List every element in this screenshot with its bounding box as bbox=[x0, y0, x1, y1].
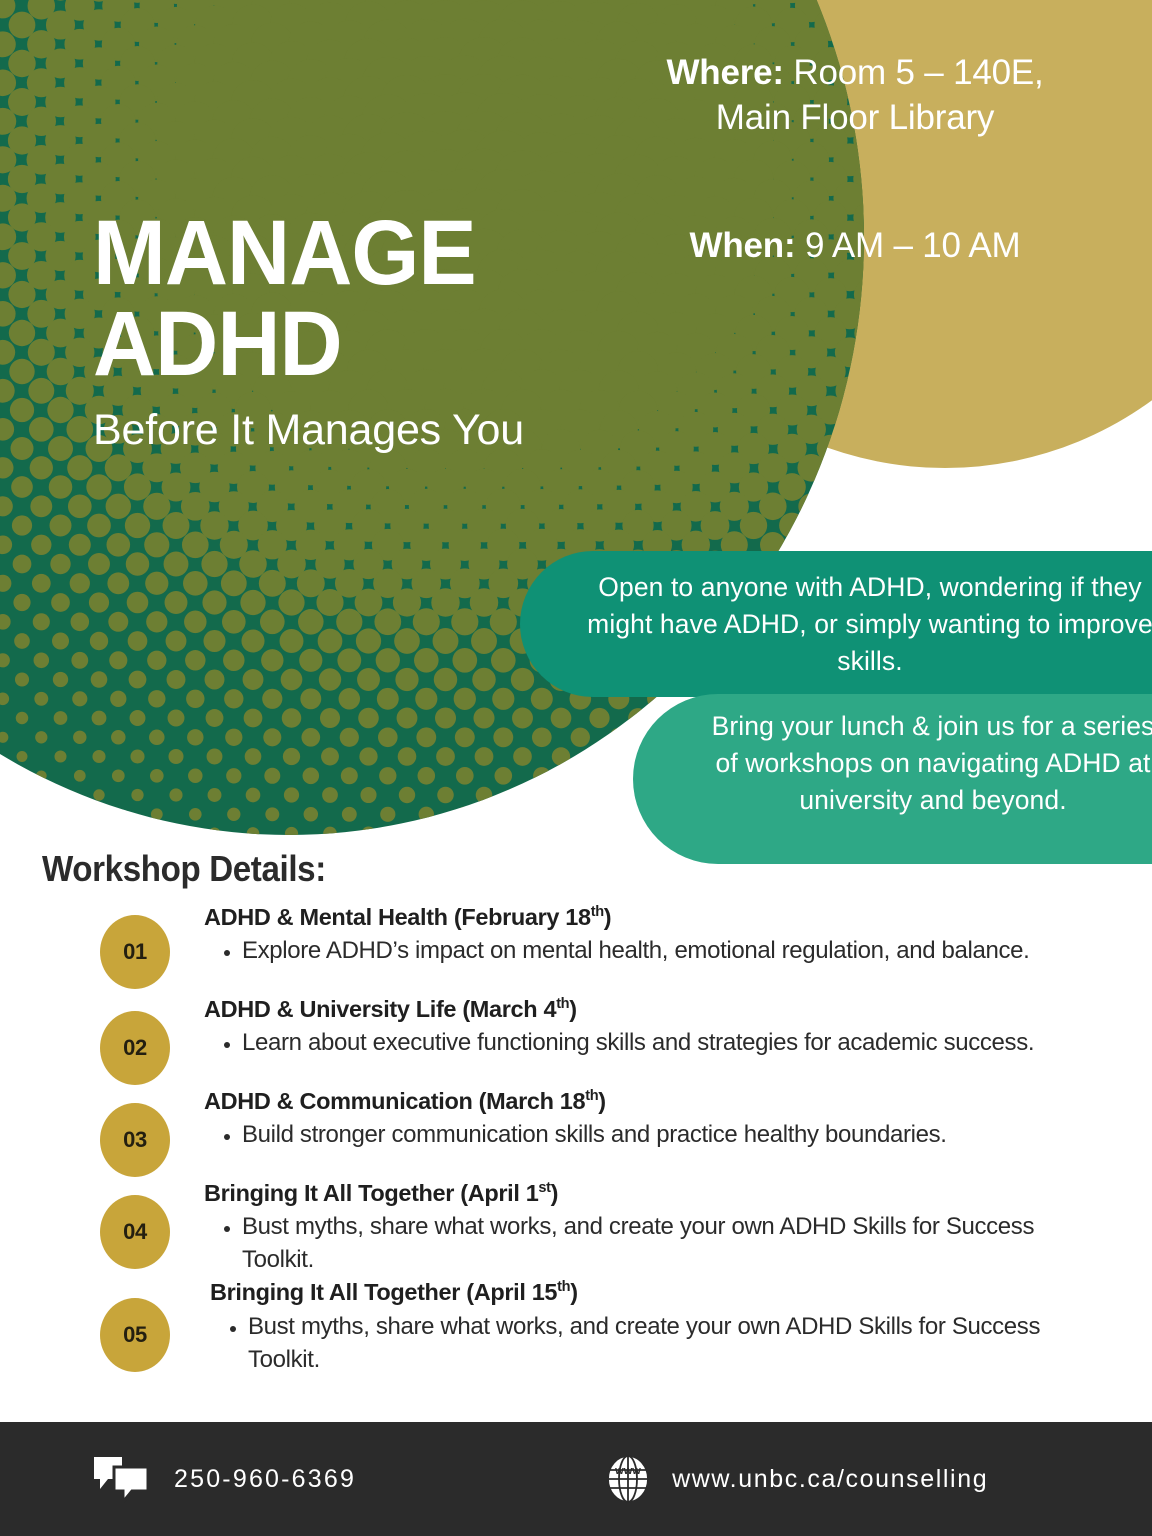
workshop-item-body: ADHD & Mental Health (February 18th) Exp… bbox=[204, 903, 1110, 967]
eligibility-callout-text: Open to anyone with ADHD, wondering if t… bbox=[570, 569, 1152, 680]
globe-www-icon: www bbox=[606, 1454, 650, 1504]
workshop-title-ordinal: th bbox=[585, 1088, 598, 1104]
workshop-item-title: Bringing It All Together (April 15th) bbox=[210, 1278, 1110, 1307]
workshop-item-body: Bringing It All Together (April 15th) Bu… bbox=[210, 1278, 1110, 1375]
workshop-title-close: ) bbox=[569, 996, 576, 1022]
hero-block: MANAGE ADHD Before It Manages You bbox=[93, 208, 733, 453]
workshop-bullet-list: Learn about executive functioning skills… bbox=[204, 1026, 1110, 1059]
workshop-number-badge: 03 bbox=[100, 1103, 170, 1177]
where-label: Where: bbox=[666, 53, 783, 92]
workshop-title-text: Bringing It All Together (April 15 bbox=[210, 1279, 557, 1305]
poster-canvas: Where: Room 5 – 140E, Main Floor Library… bbox=[0, 0, 1152, 1536]
footer-website-group[interactable]: www www.unbc.ca/counselling bbox=[606, 1454, 988, 1504]
workshop-list: 01 ADHD & Mental Health (February 18th) … bbox=[100, 903, 1110, 1378]
where-value: Room 5 – 140E, bbox=[784, 53, 1044, 92]
workshop-item: 04 Bringing It All Together (April 1st) … bbox=[100, 1179, 1110, 1276]
invitation-callout-text: Bring your lunch & join us for a series … bbox=[698, 708, 1152, 819]
workshop-item: 03 ADHD & Communication (March 18th) Bui… bbox=[100, 1087, 1110, 1177]
footer-phone-number[interactable]: 250-960-6369 bbox=[174, 1465, 356, 1494]
speech-bubbles-icon bbox=[92, 1455, 152, 1503]
when-value: 9 AM – 10 AM bbox=[795, 226, 1020, 265]
workshop-title-ordinal: th bbox=[557, 1280, 570, 1296]
workshop-bullet: Build stronger communication skills and … bbox=[242, 1118, 1110, 1151]
workshop-number-badge: 04 bbox=[100, 1195, 170, 1269]
workshop-title-ordinal: th bbox=[591, 904, 604, 920]
workshop-bullet-list: Build stronger communication skills and … bbox=[204, 1118, 1110, 1151]
workshop-bullet: Bust myths, share what works, and create… bbox=[242, 1210, 1110, 1276]
workshop-item: 01 ADHD & Mental Health (February 18th) … bbox=[100, 903, 1110, 993]
workshop-number-badge: 05 bbox=[100, 1298, 170, 1372]
title-line-2: ADHD bbox=[93, 293, 342, 395]
workshop-title-text: Bringing It All Together (April 1 bbox=[204, 1180, 538, 1206]
event-location-line1: Where: Room 5 – 140E, bbox=[600, 50, 1110, 95]
hero-subtitle: Before It Manages You bbox=[93, 408, 733, 453]
workshop-details-heading: Workshop Details: bbox=[42, 848, 326, 890]
workshop-item-title: ADHD & Communication (March 18th) bbox=[204, 1087, 1110, 1116]
title-line-1: MANAGE bbox=[93, 202, 476, 304]
workshop-bullet-list: Explore ADHD’s impact on mental health, … bbox=[204, 934, 1110, 967]
workshop-bullet-list: Bust myths, share what works, and create… bbox=[204, 1210, 1110, 1276]
contact-footer: 250-960-6369 www www.unbc.ca/c bbox=[0, 1422, 1152, 1536]
workshop-item-title: ADHD & University Life (March 4th) bbox=[204, 995, 1110, 1024]
invitation-callout: Bring your lunch & join us for a series … bbox=[633, 694, 1152, 864]
workshop-item-title: ADHD & Mental Health (February 18th) bbox=[204, 903, 1110, 932]
workshop-bullet: Explore ADHD’s impact on mental health, … bbox=[242, 934, 1110, 967]
workshop-item: 02 ADHD & University Life (March 4th) Le… bbox=[100, 995, 1110, 1085]
workshop-number-badge: 02 bbox=[100, 1011, 170, 1085]
workshop-title-close: ) bbox=[598, 1088, 605, 1114]
workshop-bullet: Learn about executive functioning skills… bbox=[242, 1026, 1110, 1059]
event-location-line2: Main Floor Library bbox=[600, 95, 1110, 140]
footer-phone-group[interactable]: 250-960-6369 bbox=[92, 1455, 356, 1503]
workshop-bullet-list: Bust myths, share what works, and create… bbox=[210, 1310, 1110, 1376]
workshop-title-text: ADHD & Mental Health (February 18 bbox=[204, 904, 591, 930]
workshop-title-close: ) bbox=[551, 1180, 558, 1206]
eligibility-callout: Open to anyone with ADHD, wondering if t… bbox=[520, 551, 1152, 697]
workshop-item-body: ADHD & Communication (March 18th) Build … bbox=[204, 1087, 1110, 1151]
workshop-title-ordinal: st bbox=[538, 1180, 550, 1196]
page-title: MANAGE ADHD bbox=[93, 208, 701, 390]
workshop-title-text: ADHD & University Life (March 4 bbox=[204, 996, 556, 1022]
svg-text:www: www bbox=[614, 1465, 641, 1477]
workshop-number-badge: 01 bbox=[100, 915, 170, 989]
footer-website-url[interactable]: www.unbc.ca/counselling bbox=[672, 1465, 988, 1494]
workshop-item: 05 Bringing It All Together (April 15th)… bbox=[100, 1278, 1110, 1375]
workshop-item-body: Bringing It All Together (April 1st) Bus… bbox=[204, 1179, 1110, 1276]
workshop-title-close: ) bbox=[604, 904, 611, 930]
workshop-item-title: Bringing It All Together (April 1st) bbox=[204, 1179, 1110, 1208]
workshop-title-text: ADHD & Communication (March 18 bbox=[204, 1088, 585, 1114]
workshop-bullet: Bust myths, share what works, and create… bbox=[248, 1310, 1110, 1376]
workshop-title-ordinal: th bbox=[556, 996, 569, 1012]
workshop-item-body: ADHD & University Life (March 4th) Learn… bbox=[204, 995, 1110, 1059]
workshop-title-close: ) bbox=[570, 1279, 577, 1305]
